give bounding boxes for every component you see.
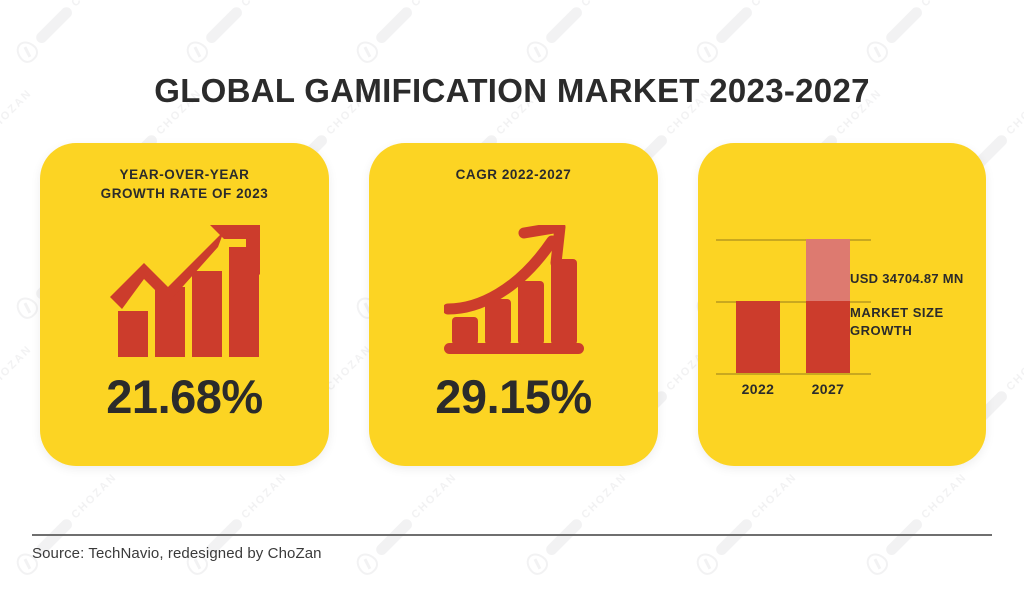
bar-label-2027: 2027: [796, 381, 860, 397]
card-heading: YEAR-OVER-YEAR GROWTH RATE OF 2023: [54, 165, 315, 203]
card-heading-line1: CAGR 2022-2027: [456, 167, 572, 182]
cards-row: YEAR-OVER-YEAR GROWTH RATE OF 2023: [40, 143, 986, 466]
bar-chart-curved-arrow-icon: [369, 225, 658, 357]
bar-2022-base-segment: [736, 301, 780, 373]
bar-label-2022: 2022: [726, 381, 790, 397]
card-heading: CAGR 2022-2027: [383, 165, 644, 184]
page-title: GLOBAL GAMIFICATION MARKET 2023-2027: [0, 72, 1024, 110]
card-heading-line1: YEAR-OVER-YEAR: [120, 167, 250, 182]
market-size-label-line1: MARKET SIZE: [850, 305, 944, 320]
card-heading-line2: GROWTH RATE OF 2023: [101, 186, 269, 201]
infographic-root: GLOBAL GAMIFICATION MARKET 2023-2027 YEA…: [0, 0, 1024, 600]
stat-card-cagr: CAGR 2022-2027: [369, 143, 658, 466]
chart-annotations: USD 34704.87 MN MARKET SIZE GROWTH: [850, 271, 990, 341]
source-attribution: Source: TechNavio, redesigned by ChoZan: [32, 545, 322, 562]
footer-divider: [32, 534, 992, 536]
stat-card-yoy-growth: YEAR-OVER-YEAR GROWTH RATE OF 2023: [40, 143, 329, 466]
stat-value: 21.68%: [40, 369, 329, 424]
bar-2027: [806, 239, 850, 373]
axis-baseline: [716, 373, 871, 375]
stat-value: 29.15%: [369, 369, 658, 424]
bar-2022: [736, 239, 780, 373]
bar-chart-zigzag-arrow-icon: [40, 225, 329, 357]
market-size-growth-card: 2022 2027 USD 34704.87 MN MARKET SIZE GR…: [698, 143, 986, 466]
bar-2027-base-segment: [806, 301, 850, 373]
bar-2027-growth-segment: [806, 239, 850, 301]
market-size-value: USD 34704.87 MN: [850, 271, 990, 286]
market-size-label-line2: GROWTH: [850, 323, 912, 338]
market-size-label: MARKET SIZE GROWTH: [850, 304, 990, 341]
